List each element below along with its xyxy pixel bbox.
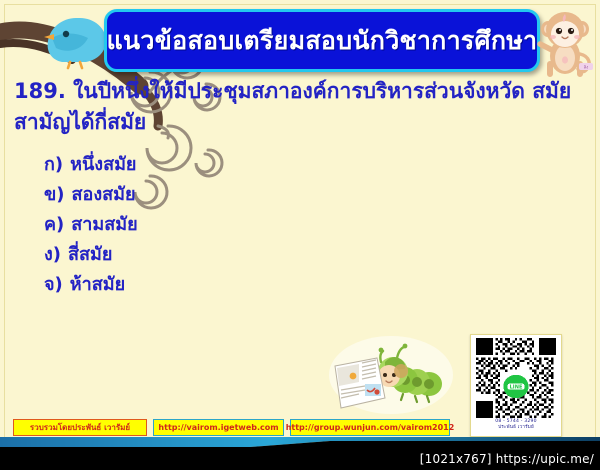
qr-panel[interactable]: LINE 08 - 5744 - 3290 ประพันธ์ เวารัมย์ [470,334,562,437]
choice-key: ก) [44,154,63,175]
choice-option[interactable]: ก)หนึ่งสมัย [44,150,464,180]
choice-option[interactable]: ค)สามสมัย [44,210,464,240]
choice-key: ง) [44,244,61,265]
choice-list: ก)หนึ่งสมัย ข)สองสมัย ค)สามสมัย ง)สี่สมั… [44,150,464,300]
choice-label: สามสมัย [71,214,137,235]
choice-label: ห้าสมัย [70,274,125,295]
footer-watermark-bar: [1021x767] https://upic.me/ [0,447,600,470]
credit-link-igetweb-box[interactable]: http://vairom.igetweb.com [153,419,284,436]
choice-label: หนึ่งสมัย [70,154,136,175]
line-qr-code-icon[interactable]: LINE [476,338,556,418]
footer-watermark-text: [1021x767] https://upic.me/ [420,452,594,466]
choice-label: สี่สมัย [68,244,112,265]
banner-title: แนวข้อสอบเตรียมสอบนักวิชาการศึกษา [107,28,538,53]
choice-label: สองสมัย [72,184,136,205]
qr-name: ประพันธ์ เวารัมย์ [475,425,557,431]
credit-link-wunjun-text[interactable]: http://group.wunjun.com/vairom2012 [286,424,455,432]
choice-option[interactable]: ข)สองสมัย [44,180,464,210]
choice-key: จ) [44,274,63,295]
credit-link-igetweb-text[interactable]: http://vairom.igetweb.com [158,424,278,432]
slide-canvas: แนวข้อสอบเตรียมสอบนักวิชาการศึกษา [0,0,600,447]
title-banner: แนวข้อสอบเตรียมสอบนักวิชาการศึกษา [104,9,540,72]
credit-bar: รวบรวมโดยประพันธ์ เวารัมย์ http://vairom… [13,419,450,436]
bottom-wedge-decoration [0,437,600,447]
credit-author-box: รวบรวมโดยประพันธ์ เวารัมย์ [13,419,147,436]
choice-key: ค) [44,214,64,235]
choice-option[interactable]: จ)ห้าสมัย [44,270,464,300]
screenshot-root: แนวข้อสอบเตรียมสอบนักวิชาการศึกษา [0,0,600,470]
choice-option[interactable]: ง)สี่สมัย [44,240,464,270]
credit-link-wunjun-box[interactable]: http://group.wunjun.com/vairom2012 [290,419,450,436]
monkey-badge-icon: ลิง [578,62,594,71]
choice-key: ข) [44,184,65,205]
caterpillar-reading-newspaper-icon [325,332,457,418]
svg-text:ลิง: ลิง [583,64,588,69]
credit-author-text: รวบรวมโดยประพันธ์ เวารัมย์ [30,424,130,432]
svg-text:LINE: LINE [510,385,523,391]
question-text: 189. ในปีหนึ่งให้มีประชุมสภาองค์การบริหา… [14,76,574,138]
line-badge-icon: LINE [503,375,528,398]
